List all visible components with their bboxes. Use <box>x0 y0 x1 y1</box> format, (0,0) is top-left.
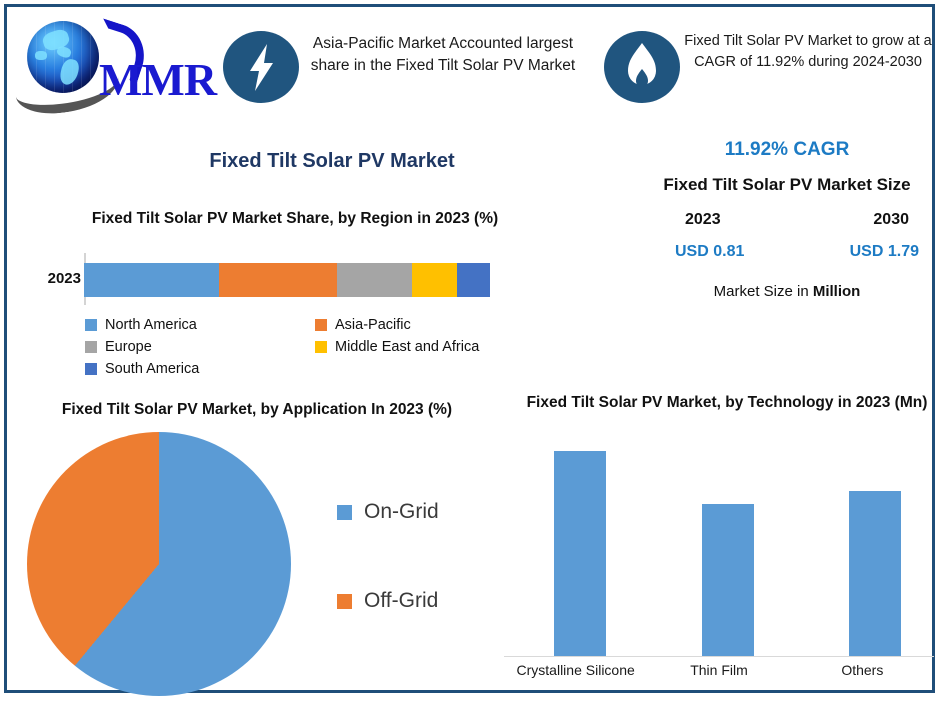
base-year-label: 2023 <box>685 211 721 229</box>
forecast-year-label: 2030 <box>873 211 909 229</box>
market-size-title: Fixed Tilt Solar PV Market Size <box>637 173 937 197</box>
legend-item: Asia-Pacific <box>315 317 545 333</box>
forecast-year-value: USD 1.79 <box>850 243 919 261</box>
technology-bar <box>702 504 754 656</box>
application-chart-title: Fixed Tilt Solar PV Market, by Applicati… <box>37 399 477 420</box>
region-bar-segment-4 <box>457 263 490 297</box>
legend-label: North America <box>105 317 197 333</box>
legend-item <box>315 361 545 377</box>
technology-chart-plot <box>504 437 934 657</box>
infographic-frame: MMR Asia-Pacific Market Accounted larges… <box>4 4 935 693</box>
legend-label: Middle East and Africa <box>335 339 479 355</box>
region-bar-segment-2 <box>337 263 412 297</box>
region-chart-category-label: 2023 <box>29 270 81 287</box>
header-highlight-right: Fixed Tilt Solar PV Market to grow at a … <box>683 31 933 72</box>
technology-x-label: Others <box>791 662 934 678</box>
mmr-logo: MMR <box>15 17 205 109</box>
technology-bar <box>554 451 606 656</box>
region-stacked-bar <box>84 263 490 297</box>
legend-label: Asia-Pacific <box>335 317 411 333</box>
legend-swatch-icon <box>337 594 352 609</box>
legend-label: On-Grid <box>364 500 439 524</box>
market-size-unit-note: Market Size in Million <box>637 283 937 300</box>
market-size-values: USD 0.81 USD 1.79 <box>675 243 919 261</box>
legend-label: Off-Grid <box>364 589 438 613</box>
legend-label: South America <box>105 361 199 377</box>
legend-item: Off-Grid <box>337 589 517 613</box>
region-bar-segment-1 <box>219 263 337 297</box>
globe-icon <box>27 21 99 93</box>
legend-row: South America <box>85 361 545 377</box>
base-year-value: USD 0.81 <box>675 243 744 261</box>
unit-note-prefix: Market Size in <box>714 283 813 300</box>
technology-chart-title: Fixed Tilt Solar PV Market, by Technolog… <box>517 392 937 413</box>
logo-wordmark: MMR <box>99 53 216 106</box>
application-pie-chart <box>27 432 291 696</box>
region-bar-segment-3 <box>412 263 457 297</box>
legend-item: Middle East and Africa <box>315 339 545 355</box>
legend-swatch-icon <box>315 319 327 331</box>
region-bar-segment-0 <box>84 263 219 297</box>
cagr-value: 11.92% CAGR <box>637 139 937 161</box>
market-size-years: 2023 2030 <box>685 211 909 229</box>
legend-item: North America <box>85 317 315 333</box>
technology-x-label: Crystalline Silicone <box>504 662 647 678</box>
region-chart-legend: North AmericaAsia-PacificEuropeMiddle Ea… <box>85 317 545 383</box>
region-chart-title: Fixed Tilt Solar PV Market Share, by Reg… <box>67 209 523 230</box>
legend-swatch-icon <box>315 341 327 353</box>
flame-icon <box>604 31 680 103</box>
technology-chart-x-labels: Crystalline SiliconeThin FilmOthers <box>504 662 934 678</box>
technology-x-label: Thin Film <box>647 662 790 678</box>
lightning-bolt-icon <box>223 31 299 103</box>
region-chart-plot: 2023 <box>19 253 529 309</box>
legend-item: Europe <box>85 339 315 355</box>
page-title: Fixed Tilt Solar PV Market <box>127 150 537 173</box>
unit-note-value: Million <box>813 283 861 300</box>
market-size-panel: 11.92% CAGR Fixed Tilt Solar PV Market S… <box>637 139 937 300</box>
legend-item: South America <box>85 361 315 377</box>
legend-row: EuropeMiddle East and Africa <box>85 339 545 355</box>
application-chart-legend: On-GridOff-Grid <box>337 500 517 678</box>
legend-item: On-Grid <box>337 500 517 524</box>
legend-swatch-icon <box>85 363 97 375</box>
legend-label: Europe <box>105 339 152 355</box>
header: MMR Asia-Pacific Market Accounted larges… <box>7 7 932 121</box>
legend-swatch-icon <box>85 341 97 353</box>
legend-swatch-icon <box>85 319 97 331</box>
globe-landmass <box>35 51 47 60</box>
legend-row: North AmericaAsia-Pacific <box>85 317 545 333</box>
header-highlight-left: Asia-Pacific Market Accounted largest sh… <box>303 33 583 77</box>
technology-chart-baseline <box>504 656 934 657</box>
legend-swatch-icon <box>337 505 352 520</box>
technology-bar <box>849 491 901 656</box>
